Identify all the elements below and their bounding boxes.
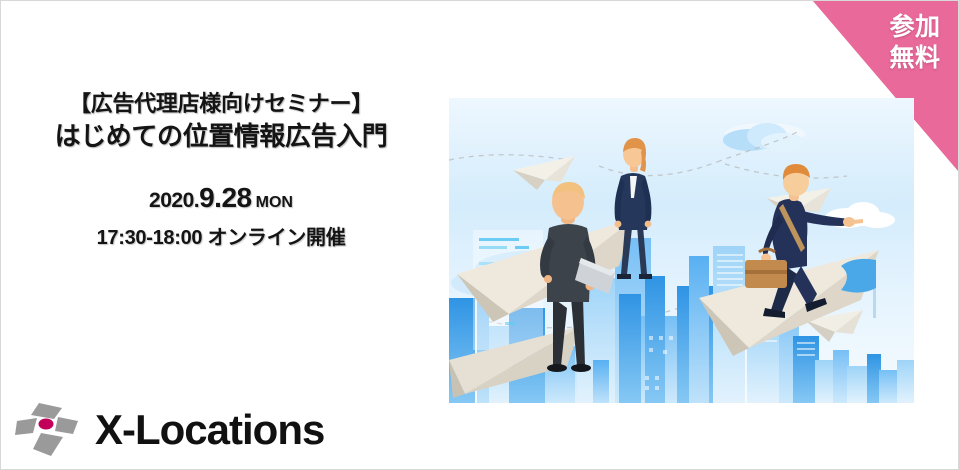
event-time-format: 17:30-18:00 オンライン開催 <box>1 221 441 250</box>
seminar-banner: 参加 無料 【広告代理店様向けセミナー】 はじめての位置情報広告入門 2020.… <box>0 0 959 470</box>
ribbon-label-line1: 参加 <box>884 12 946 43</box>
ribbon-label: 参加 無料 <box>884 12 946 73</box>
illustration-artwork <box>449 98 914 403</box>
ribbon-label-line2: 無料 <box>884 43 946 74</box>
brand-name: X-Locations <box>95 409 324 451</box>
seminar-subtitle: 【広告代理店様向けセミナー】 <box>1 89 441 118</box>
event-date: 2020.9.28MON <box>1 181 441 215</box>
event-day: 9.28 <box>199 182 252 213</box>
event-weekday: MON <box>256 194 293 211</box>
x-locations-mark-icon <box>15 399 81 461</box>
event-year: 2020. <box>149 189 199 212</box>
brand-logo: X-Locations <box>15 399 324 461</box>
seminar-title: はじめての位置情報広告入門 <box>1 119 441 153</box>
headline-block: 【広告代理店様向けセミナー】 はじめての位置情報広告入門 2020.9.28MO… <box>1 89 441 250</box>
hero-illustration <box>449 98 914 403</box>
